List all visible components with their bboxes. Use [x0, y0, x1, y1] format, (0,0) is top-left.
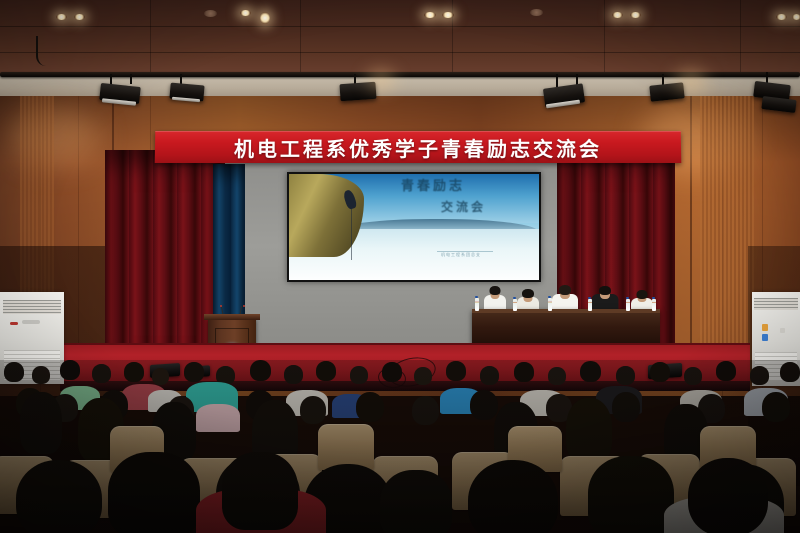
water-bottle	[588, 299, 592, 311]
audience-area	[0, 360, 800, 533]
panelist	[591, 284, 619, 312]
auditorium-photo: 青春励志 交流会 机电工程系团总支 机电工程系优秀学子青春励志交流会	[0, 0, 800, 533]
water-bottle	[626, 299, 630, 311]
water-bottle	[475, 298, 479, 311]
water-bottle	[548, 298, 552, 311]
water-bottle	[513, 299, 517, 311]
panelist	[551, 283, 579, 312]
water-bottle	[652, 299, 656, 311]
panelist	[483, 284, 507, 312]
